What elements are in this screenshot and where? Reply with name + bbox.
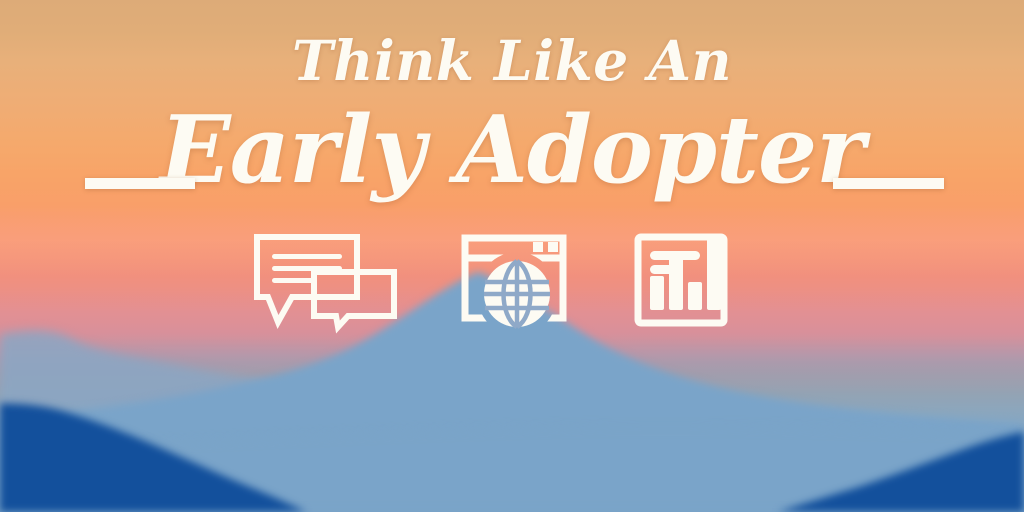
bar-chart-icon (633, 232, 729, 328)
chat-bubbles-icon (252, 232, 402, 327)
chart-bar-3 (688, 282, 702, 310)
chat-line-1 (272, 254, 342, 259)
chart-bar-1 (650, 276, 664, 310)
banner-canvas: Think Like An Early Adopter (0, 0, 1024, 512)
browser-titlebar-button-2 (548, 242, 558, 252)
chat-line-3 (272, 278, 316, 283)
browser-titlebar-button-1 (533, 242, 543, 252)
decorative-rule-left (85, 178, 195, 189)
globe-shape (484, 261, 550, 327)
chart-bar-2 (669, 252, 683, 310)
browser-globe-icon (459, 232, 569, 332)
decorative-rule-right (833, 178, 944, 189)
headline-line-1: Think Like An (0, 30, 1024, 92)
chart-bar-4 (707, 234, 721, 310)
icon-row (0, 232, 1024, 332)
